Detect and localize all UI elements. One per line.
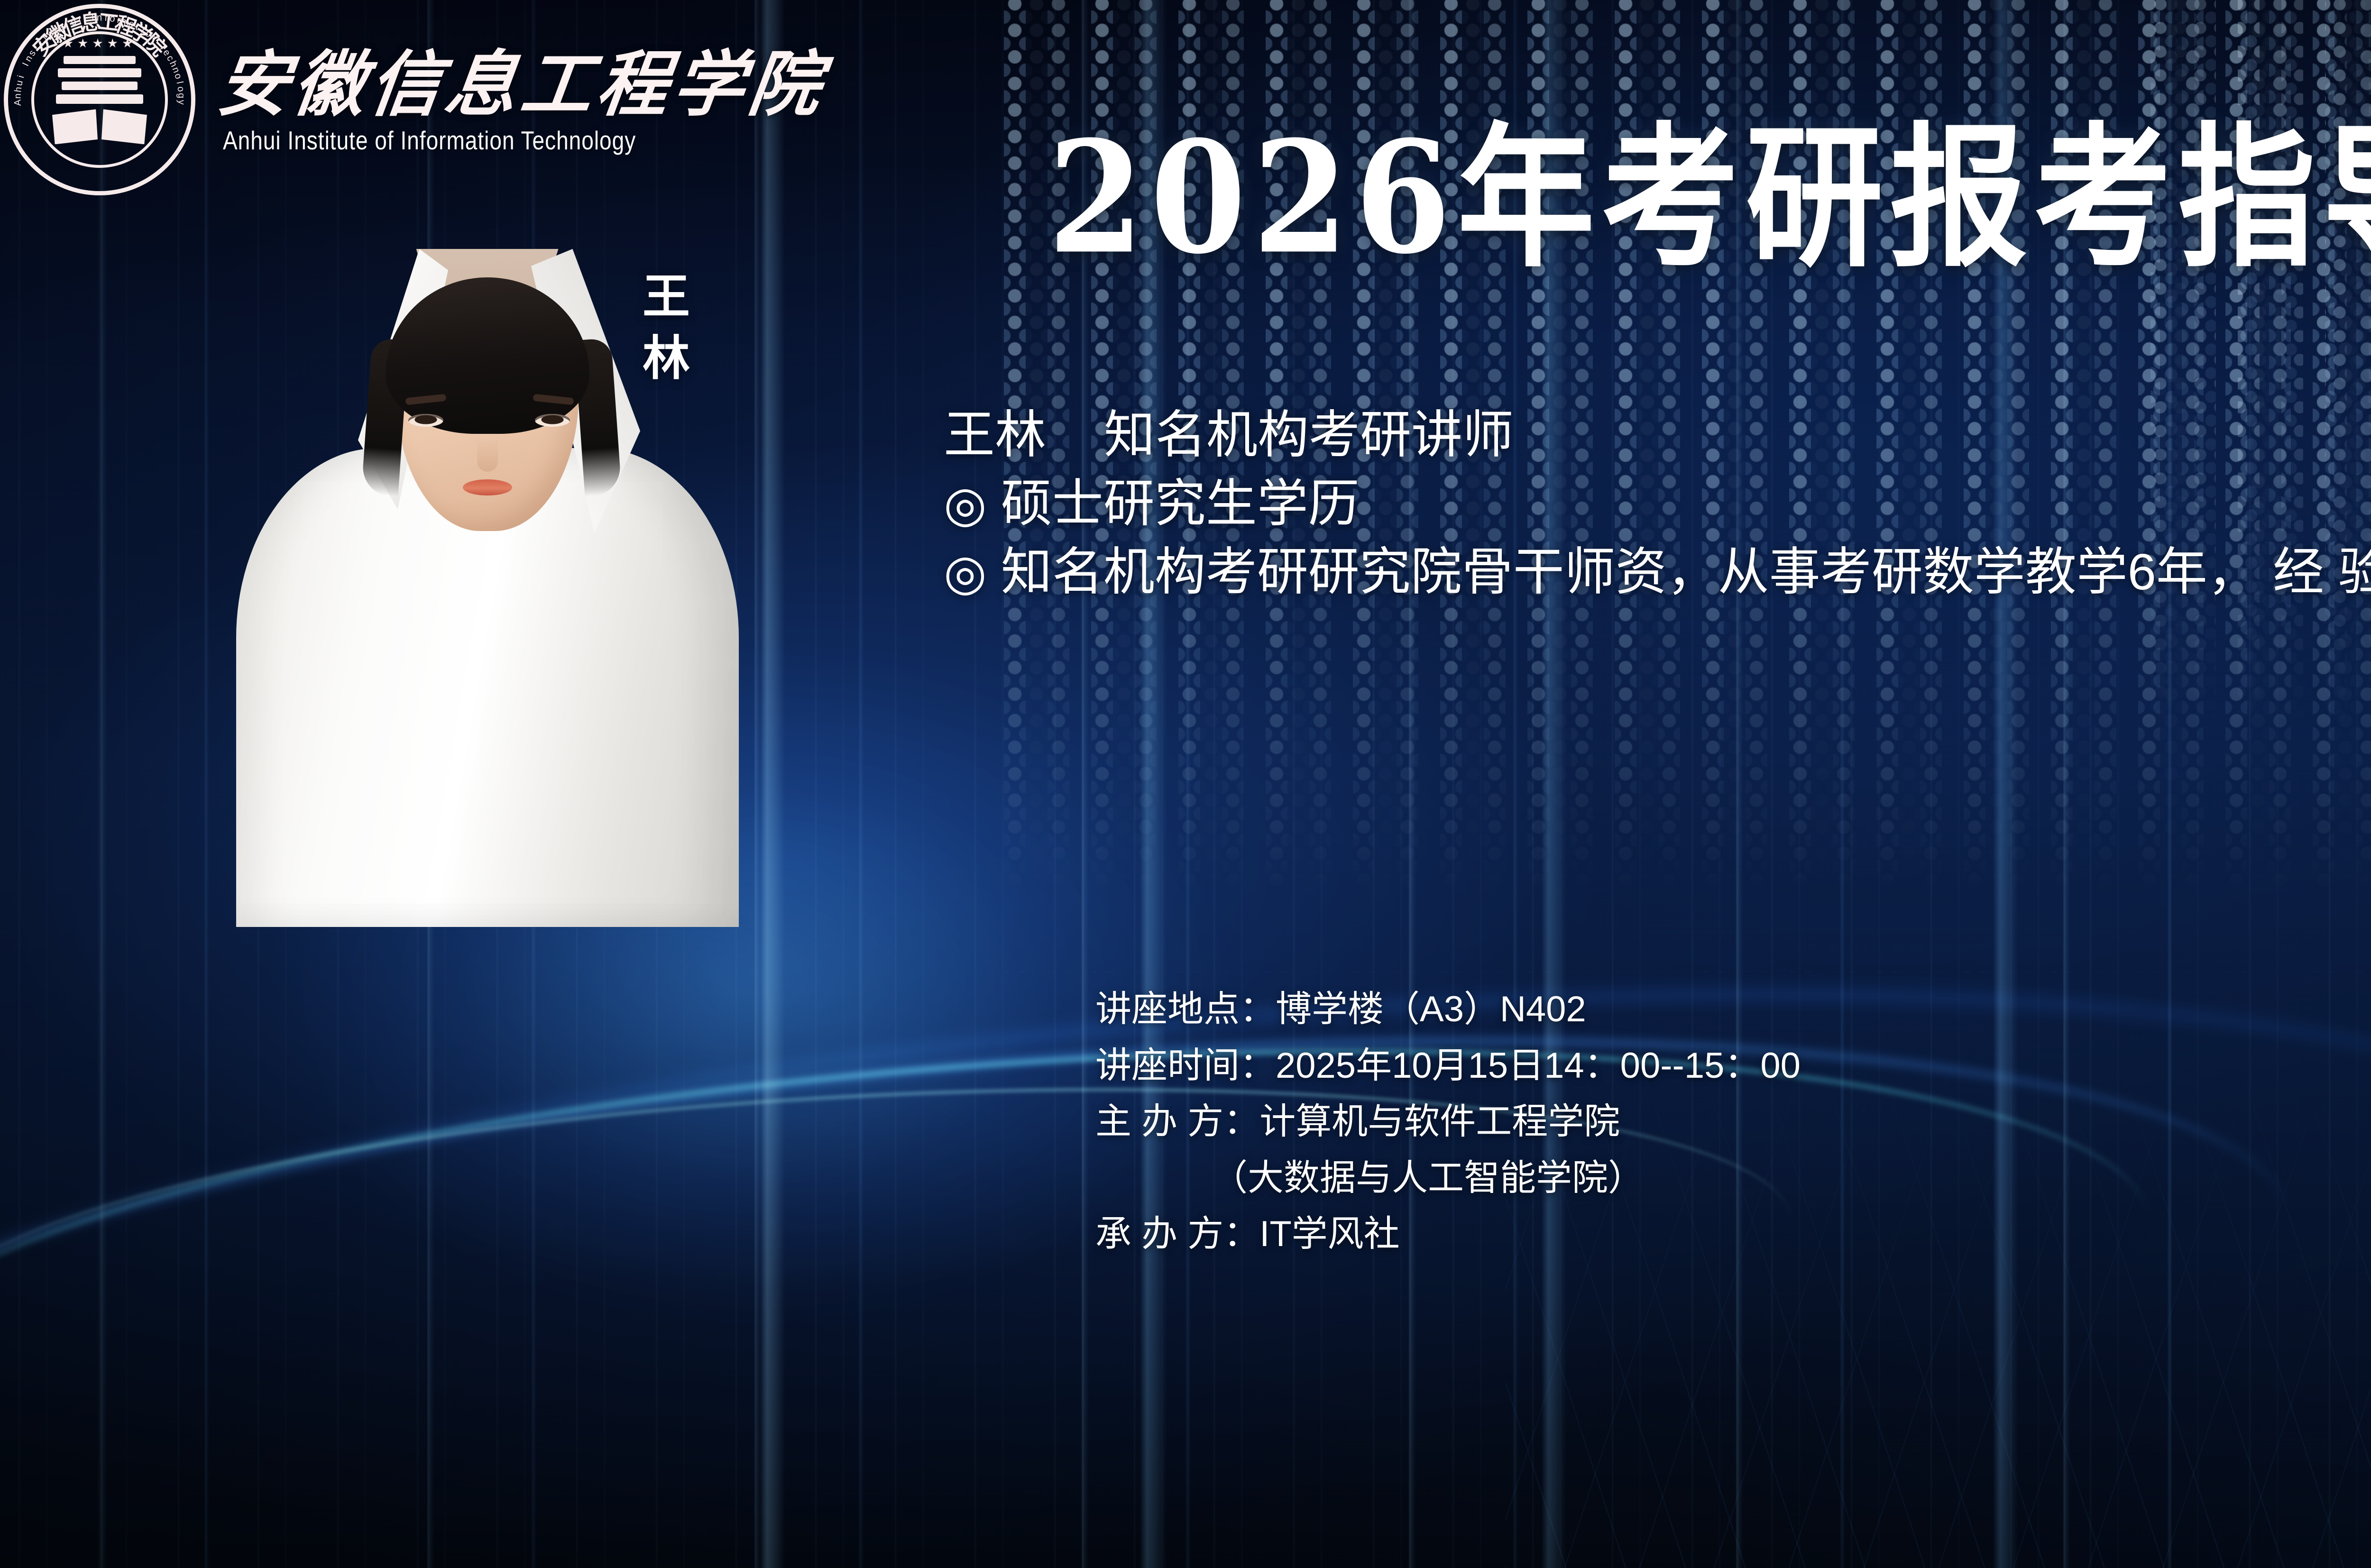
poster-title: 2026年考研报考指导 xyxy=(1048,121,2371,275)
university-seal-icon: 安徽信息工程学院 Anhui Institute of Information … xyxy=(0,0,199,199)
arc-char: h xyxy=(13,86,24,93)
bio-bullet-row-2: ◎ 知名机构考研研究院骨干师资，从事考研数学教学6年， 经 验丰富，同时可授课考… xyxy=(944,538,2371,606)
bio-bullet-2-continuation: 验丰富，同时可授课考研公开课和考研复试课程。 xyxy=(2338,543,2371,600)
arc-char: I xyxy=(91,13,95,24)
bio-bullet-2-text: 知名机构考研研究院骨干师资，从事考研数学教学6年， 经 xyxy=(1001,543,2324,600)
seal-book-emblem-icon xyxy=(55,56,145,151)
university-name-block: 安徽信息工程学院 Anhui Institute of Information … xyxy=(218,46,825,153)
arc-char: n xyxy=(97,13,102,24)
detail-row-host: 主 办 方：计算机与软件工程学院 xyxy=(1095,1094,1801,1150)
speaker-lips xyxy=(463,479,512,495)
detail-row-location: 讲座地点：博学楼（A3）N402 xyxy=(1095,981,1801,1038)
seal-book-2 xyxy=(58,68,141,77)
arc-char: f xyxy=(77,15,83,26)
arc-char: i xyxy=(16,74,27,80)
organizer-label: 承 办 方： xyxy=(1095,1214,1259,1254)
detail-row-time: 讲座时间：2025年10月15日14：00--15：00 xyxy=(1095,1038,1801,1094)
arc-char: A xyxy=(12,99,23,106)
bio-speaker-role: 知名机构考研讲师 xyxy=(1104,406,1514,463)
bio-headline: 王林 知名机构考研讲师 xyxy=(944,401,2371,469)
speaker-eye-right xyxy=(535,414,570,427)
seal-open-book-icon xyxy=(52,109,147,147)
university-header: 安徽信息工程学院 Anhui Institute of Information … xyxy=(0,0,825,199)
organizer-value: IT学风社 xyxy=(1259,1214,1400,1254)
arc-char: n xyxy=(12,93,24,99)
university-name-cn: 安徽信息工程学院 xyxy=(214,49,829,120)
event-details-block: 讲座地点：博学楼（A3）N402 讲座时间：2025年10月15日14：00--… xyxy=(1095,981,1801,1263)
host-sub-value: （大数据与人工智能学院） xyxy=(1212,1158,1644,1198)
detail-row-host-sub: （大数据与人工智能学院） xyxy=(1095,1150,1801,1207)
location-label: 讲座地点： xyxy=(1095,989,1276,1029)
bullet-icon: ◎ xyxy=(944,477,987,532)
bio-bullet-1-text: 硕士研究生学历 xyxy=(1001,475,1360,532)
arc-char: g xyxy=(175,93,187,99)
speaker-name-vertical: 王 林 xyxy=(643,273,690,382)
bio-bullet-row-1: ◎ 硕士研究生学历 xyxy=(944,469,2371,538)
arc-char: y xyxy=(175,100,186,105)
arc-char: o xyxy=(175,86,186,93)
seal-page-left xyxy=(52,109,98,144)
time-value: 2025年10月15日14：00--15：00 xyxy=(1276,1045,1801,1086)
host-value: 计算机与软件工程学院 xyxy=(1259,1101,1620,1142)
host-label: 主 办 方： xyxy=(1095,1101,1259,1142)
seal-book-1 xyxy=(64,56,136,64)
speaker-nose xyxy=(477,439,498,472)
time-label: 讲座时间： xyxy=(1095,1045,1276,1086)
speaker-eye-left xyxy=(408,414,443,427)
seal-page-right xyxy=(101,109,147,144)
seal-book-4 xyxy=(56,94,143,104)
seal-book-3 xyxy=(62,82,138,90)
speaker-name-char-1: 王 xyxy=(643,273,690,320)
seal-stars: ★★★★★ xyxy=(63,36,137,51)
location-value: 博学楼（A3）N402 xyxy=(1276,989,1586,1029)
bio-speaker-name: 王林 xyxy=(944,406,1046,463)
detail-row-organizer: 承 办 方：IT学风社 xyxy=(1095,1206,1801,1263)
speaker-name-char-2: 林 xyxy=(643,334,690,382)
arc-char: l xyxy=(174,81,185,85)
bullet-icon: ◎ xyxy=(944,545,987,600)
university-name-en: Anhui Institute of Information Technolog… xyxy=(223,125,825,156)
poster-canvas: 安徽信息工程学院 Anhui Institute of Information … xyxy=(0,0,2371,1568)
arc-char: f xyxy=(104,13,108,24)
arc-char: o xyxy=(69,16,78,28)
speaker-bio-block: 王林 知名机构考研讲师 ◎ 硕士研究生学历 ◎ 知名机构考研研究院骨干师资，从事… xyxy=(944,401,2371,606)
arc-char: o xyxy=(109,13,117,25)
